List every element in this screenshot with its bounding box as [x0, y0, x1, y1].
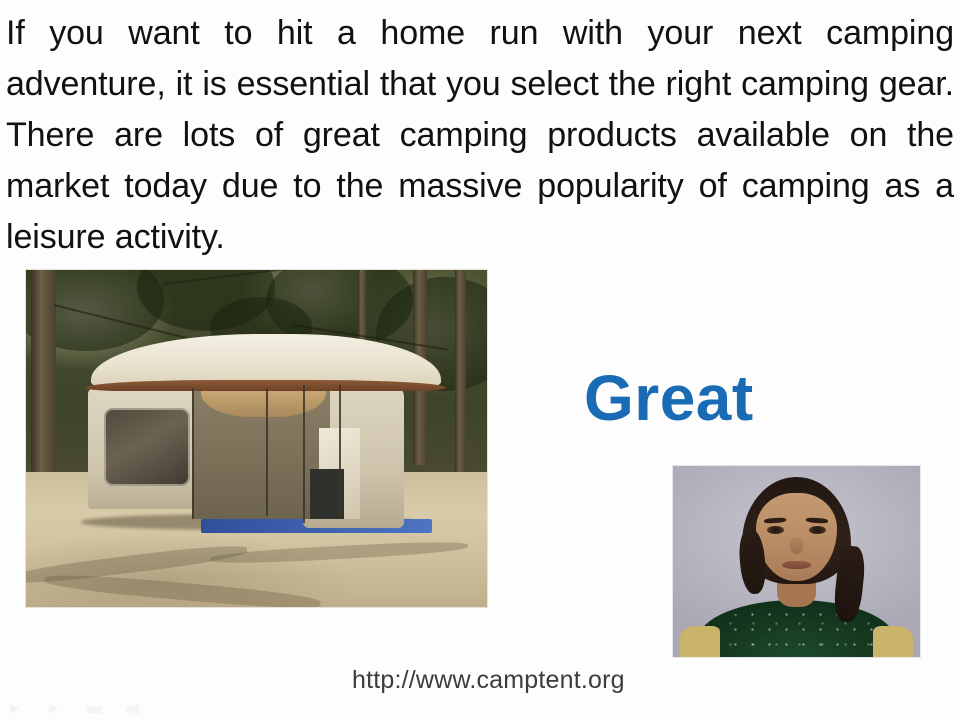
slide-body-text: If you want to hit a home run with your …: [6, 8, 954, 263]
presenter-nose: [790, 537, 802, 554]
highlight-word-great: Great: [584, 366, 754, 430]
play-icon[interactable]: [8, 703, 25, 716]
tent-pole: [266, 388, 268, 516]
presenter-video[interactable]: [673, 466, 920, 657]
tent-pole: [339, 385, 341, 520]
fullscreen-icon[interactable]: [86, 703, 103, 716]
volume-icon[interactable]: [125, 703, 142, 716]
presenter-eye-left: [767, 526, 784, 534]
tent-pole: [192, 388, 194, 519]
tree-trunk: [31, 270, 56, 486]
tent-mesh-window: [104, 408, 189, 486]
presentation-slide: If you want to hit a home run with your …: [0, 0, 960, 720]
tent-pole: [303, 385, 305, 523]
site-url[interactable]: http://www.camptent.org: [352, 666, 625, 695]
presenter-eye-right: [809, 526, 826, 534]
presenter-mouth: [782, 561, 812, 570]
player-controls[interactable]: [8, 703, 142, 716]
next-icon[interactable]: [47, 703, 64, 716]
presenter-sleeve-left: [680, 626, 720, 657]
presenter-sleeve-right: [873, 626, 913, 657]
tent-photo: [26, 270, 487, 607]
tree-trunk: [455, 270, 466, 472]
